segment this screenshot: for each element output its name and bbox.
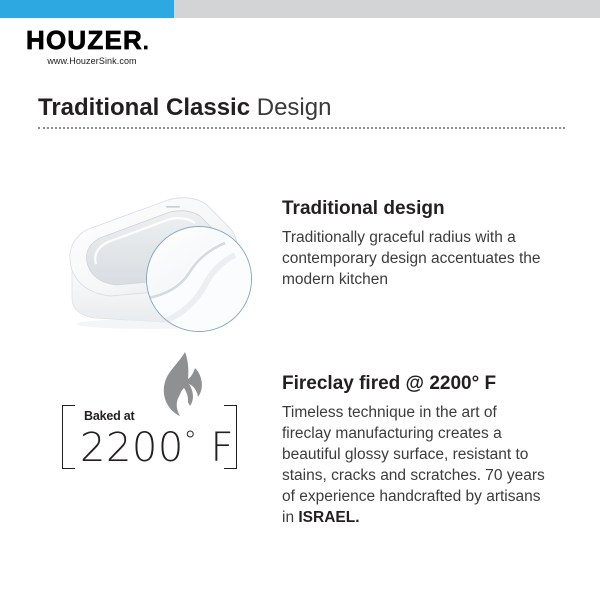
- feature-fireclay-heading: Fireclay fired @ 2200° F: [282, 372, 550, 396]
- feature-fireclay-body-start: Timeless technique in the art of firecla…: [282, 404, 545, 526]
- logo-website-url: www.HouzerSink.com: [26, 56, 158, 66]
- feature-fireclay-body: Timeless technique in the art of firecla…: [282, 402, 550, 528]
- logo-wordmark: HOUZER.: [26, 27, 176, 53]
- feature-design-body: Traditionally graceful radius with a con…: [282, 227, 550, 290]
- badge-temperature: 2200° F: [80, 419, 234, 470]
- page-title-bold: Traditional Classic: [38, 94, 250, 121]
- magnifier-circle: [146, 226, 252, 332]
- page-title-light: Design: [257, 94, 332, 121]
- feature-design-text: Traditional design Traditionally gracefu…: [282, 197, 550, 290]
- topbar-gray-segment: [174, 0, 600, 18]
- baked-at-badge: Baked at 2200° F: [62, 405, 237, 467]
- title-dotted-divider: [38, 127, 565, 129]
- logo-registered-mark: .: [143, 32, 150, 54]
- topbar-blue-segment: [0, 0, 174, 18]
- badge-unit: F: [211, 425, 235, 471]
- brand-logo: HOUZER. www.HouzerSink.com: [26, 27, 176, 66]
- top-color-bar: [0, 0, 600, 18]
- feature-design-heading: Traditional design: [282, 197, 550, 221]
- badge-temperature-value: 2200: [80, 425, 184, 471]
- feature-fireclay-text: Fireclay fired @ 2200° F Timeless techni…: [282, 372, 550, 528]
- badge-degree-symbol: °: [184, 426, 198, 456]
- page-title: Traditional Classic Design: [38, 93, 331, 123]
- logo-wordmark-text: HOUZER: [26, 25, 143, 55]
- badge-bracket-left: [62, 405, 75, 469]
- feature-fireclay-body-country: ISRAEL.: [298, 509, 359, 526]
